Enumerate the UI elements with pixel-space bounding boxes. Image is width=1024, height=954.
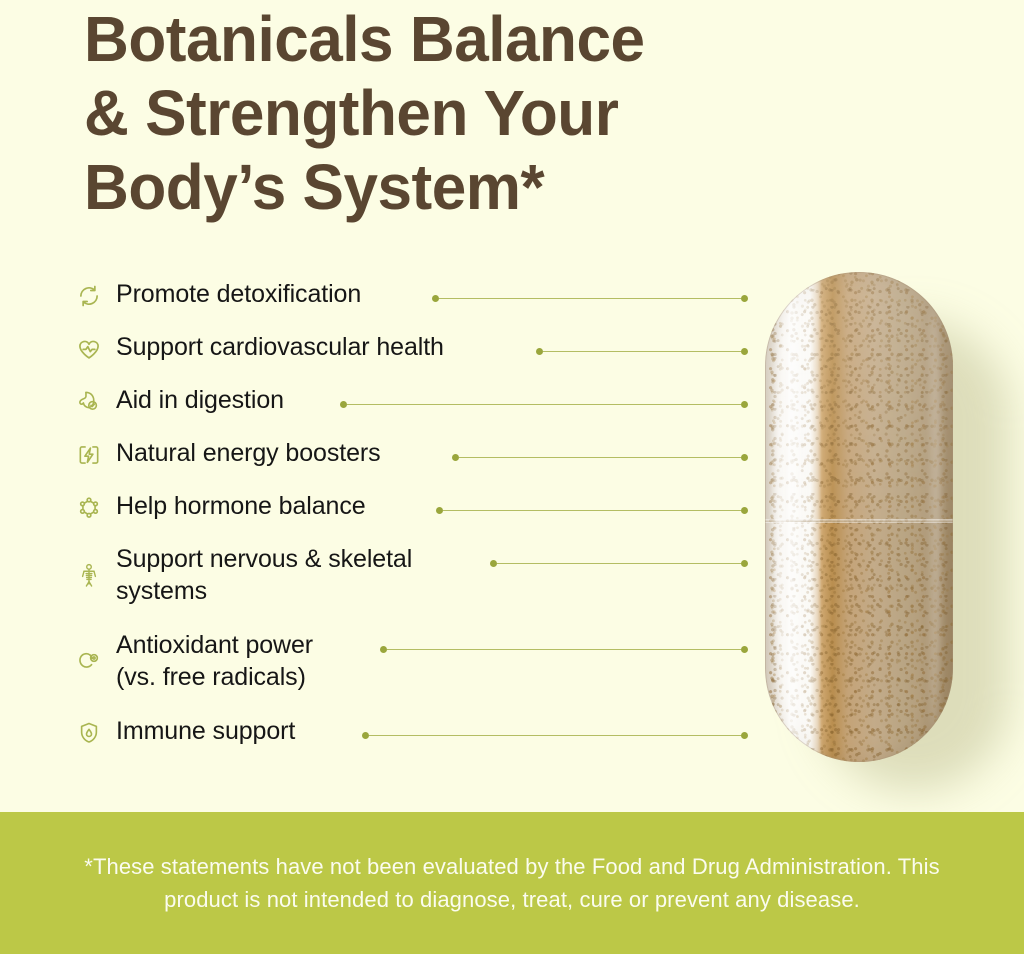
connector-line xyxy=(380,646,748,653)
product-image xyxy=(744,258,994,788)
benefit-item-cardiovascular: Support cardiovascular health xyxy=(74,331,734,384)
connector-line xyxy=(432,295,748,302)
connector-dot-left xyxy=(536,348,543,355)
connector-line xyxy=(452,454,748,461)
benefit-item-nervous-skeletal: Support nervous & skeletal systems xyxy=(74,543,734,629)
benefit-label: Promote detoxification xyxy=(104,278,361,310)
molecule-hexagon-icon xyxy=(74,493,104,523)
botanicals-benefits-poster: Botanicals Balance & Strengthen Your Bod… xyxy=(0,0,1024,954)
connector-line xyxy=(362,732,748,739)
benefits-list: Promote detoxification Support cardiovas… xyxy=(74,278,734,768)
stomach-check-icon xyxy=(74,387,104,417)
skeleton-body-icon xyxy=(74,561,104,591)
lightning-bolt-icon xyxy=(74,440,104,470)
connector-dot-left xyxy=(490,560,497,567)
benefit-item-antioxidant: Antioxidant power (vs. free radicals) xyxy=(74,629,734,715)
herbal-capsule xyxy=(765,272,953,762)
connector-rule xyxy=(439,298,741,299)
shield-droplet-icon xyxy=(74,718,104,748)
benefit-item-immune-support: Immune support xyxy=(74,715,734,768)
connector-rule xyxy=(543,351,741,352)
benefit-label: Help hormone balance xyxy=(104,490,366,522)
benefit-label: Immune support xyxy=(104,715,295,747)
connector-line xyxy=(436,507,748,514)
connector-rule xyxy=(369,735,741,736)
page-title: Botanicals Balance & Strengthen Your Bod… xyxy=(84,2,860,224)
connector-line xyxy=(490,560,748,567)
benefit-item-detoxification: Promote detoxification xyxy=(74,278,734,331)
connector-dot-left xyxy=(362,732,369,739)
benefit-label: Support cardiovascular health xyxy=(104,331,444,363)
connector-dot-left xyxy=(432,295,439,302)
benefit-label: Natural energy boosters xyxy=(104,437,381,469)
connector-rule xyxy=(459,457,741,458)
benefit-label: Aid in digestion xyxy=(104,384,284,416)
benefit-item-digestion: Aid in digestion xyxy=(74,384,734,437)
connector-rule xyxy=(347,404,741,405)
connector-rule xyxy=(443,510,741,511)
benefit-label: Support nervous & skeletal systems xyxy=(104,543,412,607)
disclaimer-text: *These statements have not been evaluate… xyxy=(82,850,942,916)
benefit-label: Antioxidant power (vs. free radicals) xyxy=(104,629,313,693)
refresh-cycle-icon xyxy=(74,281,104,311)
connector-rule xyxy=(497,563,741,564)
connector-dot-left xyxy=(436,507,443,514)
connector-dot-left xyxy=(380,646,387,653)
disclaimer-band: *These statements have not been evaluate… xyxy=(0,812,1024,954)
heart-pulse-icon xyxy=(74,334,104,364)
capsule-rim xyxy=(765,272,953,762)
connector-line xyxy=(340,401,748,408)
connector-line xyxy=(536,348,748,355)
benefit-item-energy: Natural energy boosters xyxy=(74,437,734,490)
connector-dot-left xyxy=(340,401,347,408)
connector-dot-left xyxy=(452,454,459,461)
leaf-droplet-icon xyxy=(74,647,104,677)
connector-rule xyxy=(387,649,741,650)
benefit-item-hormone-balance: Help hormone balance xyxy=(74,490,734,543)
